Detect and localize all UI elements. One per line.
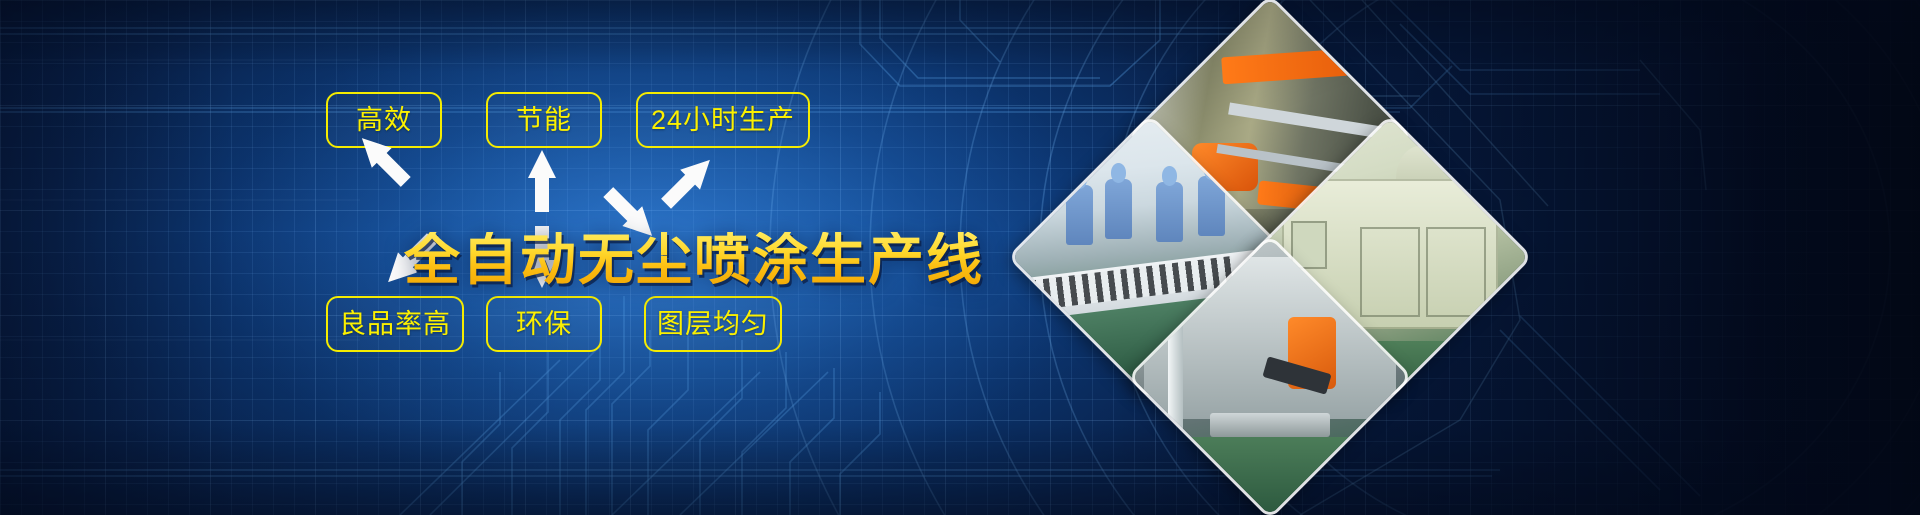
- up-left-arrow-icon: [352, 128, 416, 192]
- product-banner: 高效 节能 24小时生产 良品率高 环保 图层均匀: [0, 0, 1920, 515]
- feature-diagram: 高效 节能 24小时生产 良品率高 环保 图层均匀: [0, 0, 1060, 515]
- page-title: 全自动无尘喷涂生产线: [404, 232, 984, 288]
- photo-collage: [1048, 35, 1493, 480]
- up-right-arrow-icon: [656, 150, 720, 214]
- up-arrow-icon: [528, 150, 556, 212]
